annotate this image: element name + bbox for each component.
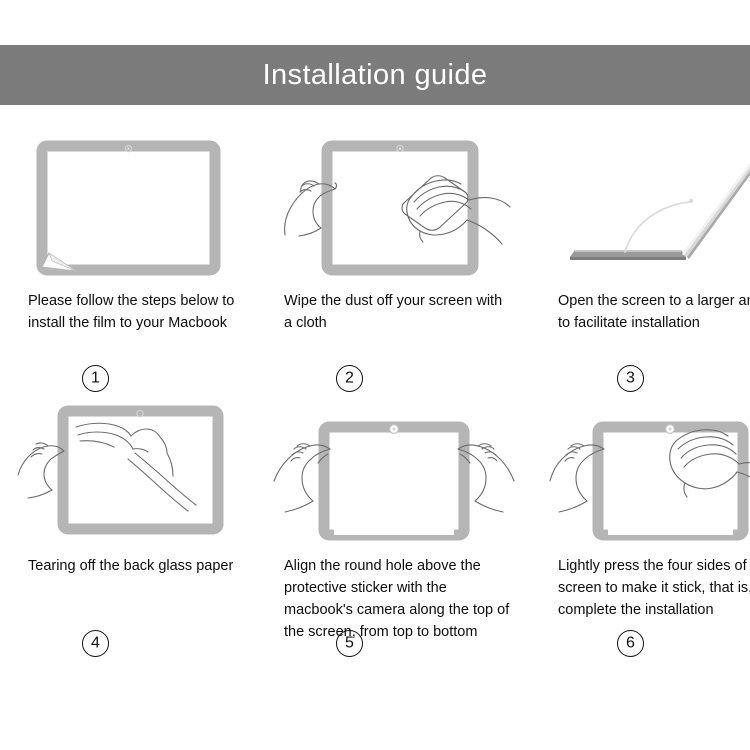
screen-with-peeling-film-corner-icon (36, 140, 221, 275)
step-number-badge: 6 (617, 630, 644, 657)
hand-pressing-screen-icon (550, 405, 750, 535)
step-6-caption: Lightly press the four sides of the scre… (550, 555, 750, 621)
step-number-badge: 2 (336, 365, 363, 392)
step-card-5: Align the round hole above the protectiv… (256, 405, 532, 670)
steps-grid: Please follow the steps below to install… (0, 140, 750, 720)
step-number-badge: 3 (617, 365, 644, 392)
step-card-4: Tearing off the back glass paper 4 (0, 405, 256, 670)
header-banner: Installation guide (0, 45, 750, 105)
step-number-badge: 1 (82, 365, 109, 392)
step-6-number: 6 (532, 630, 750, 657)
step-3-illustration (550, 140, 750, 280)
hand-wiping-screen-with-cloth-icon (279, 140, 509, 275)
installation-guide-page: Installation guide P (0, 0, 750, 750)
laptop-open-angle-arc-icon (563, 140, 750, 275)
step-6-illustration (550, 405, 750, 545)
step-5-illustration (274, 405, 514, 545)
page-title: Installation guide (263, 61, 488, 90)
two-hands-aligning-film-icon (274, 405, 514, 535)
step-2-caption: Wipe the dust off your screen with a clo… (274, 290, 514, 334)
step-number-badge: 4 (82, 630, 109, 657)
step-3-number: 3 (532, 365, 750, 392)
step-card-3: Open the screen to a larger angle to fac… (532, 140, 750, 405)
step-2-illustration (274, 140, 514, 280)
step-card-1: Please follow the steps below to install… (0, 140, 256, 405)
step-3-caption: Open the screen to a larger angle to fac… (550, 290, 750, 334)
step-4-illustration (18, 405, 238, 545)
step-number-badge: 5 (336, 630, 363, 657)
step-1-caption: Please follow the steps below to install… (18, 290, 238, 334)
step-card-2: Wipe the dust off your screen with a clo… (256, 140, 532, 405)
hands-peeling-back-paper-icon (18, 405, 238, 535)
step-1-illustration (18, 140, 238, 280)
step-4-caption: Tearing off the back glass paper (18, 555, 238, 577)
step-card-6: Lightly press the four sides of the scre… (532, 405, 750, 670)
